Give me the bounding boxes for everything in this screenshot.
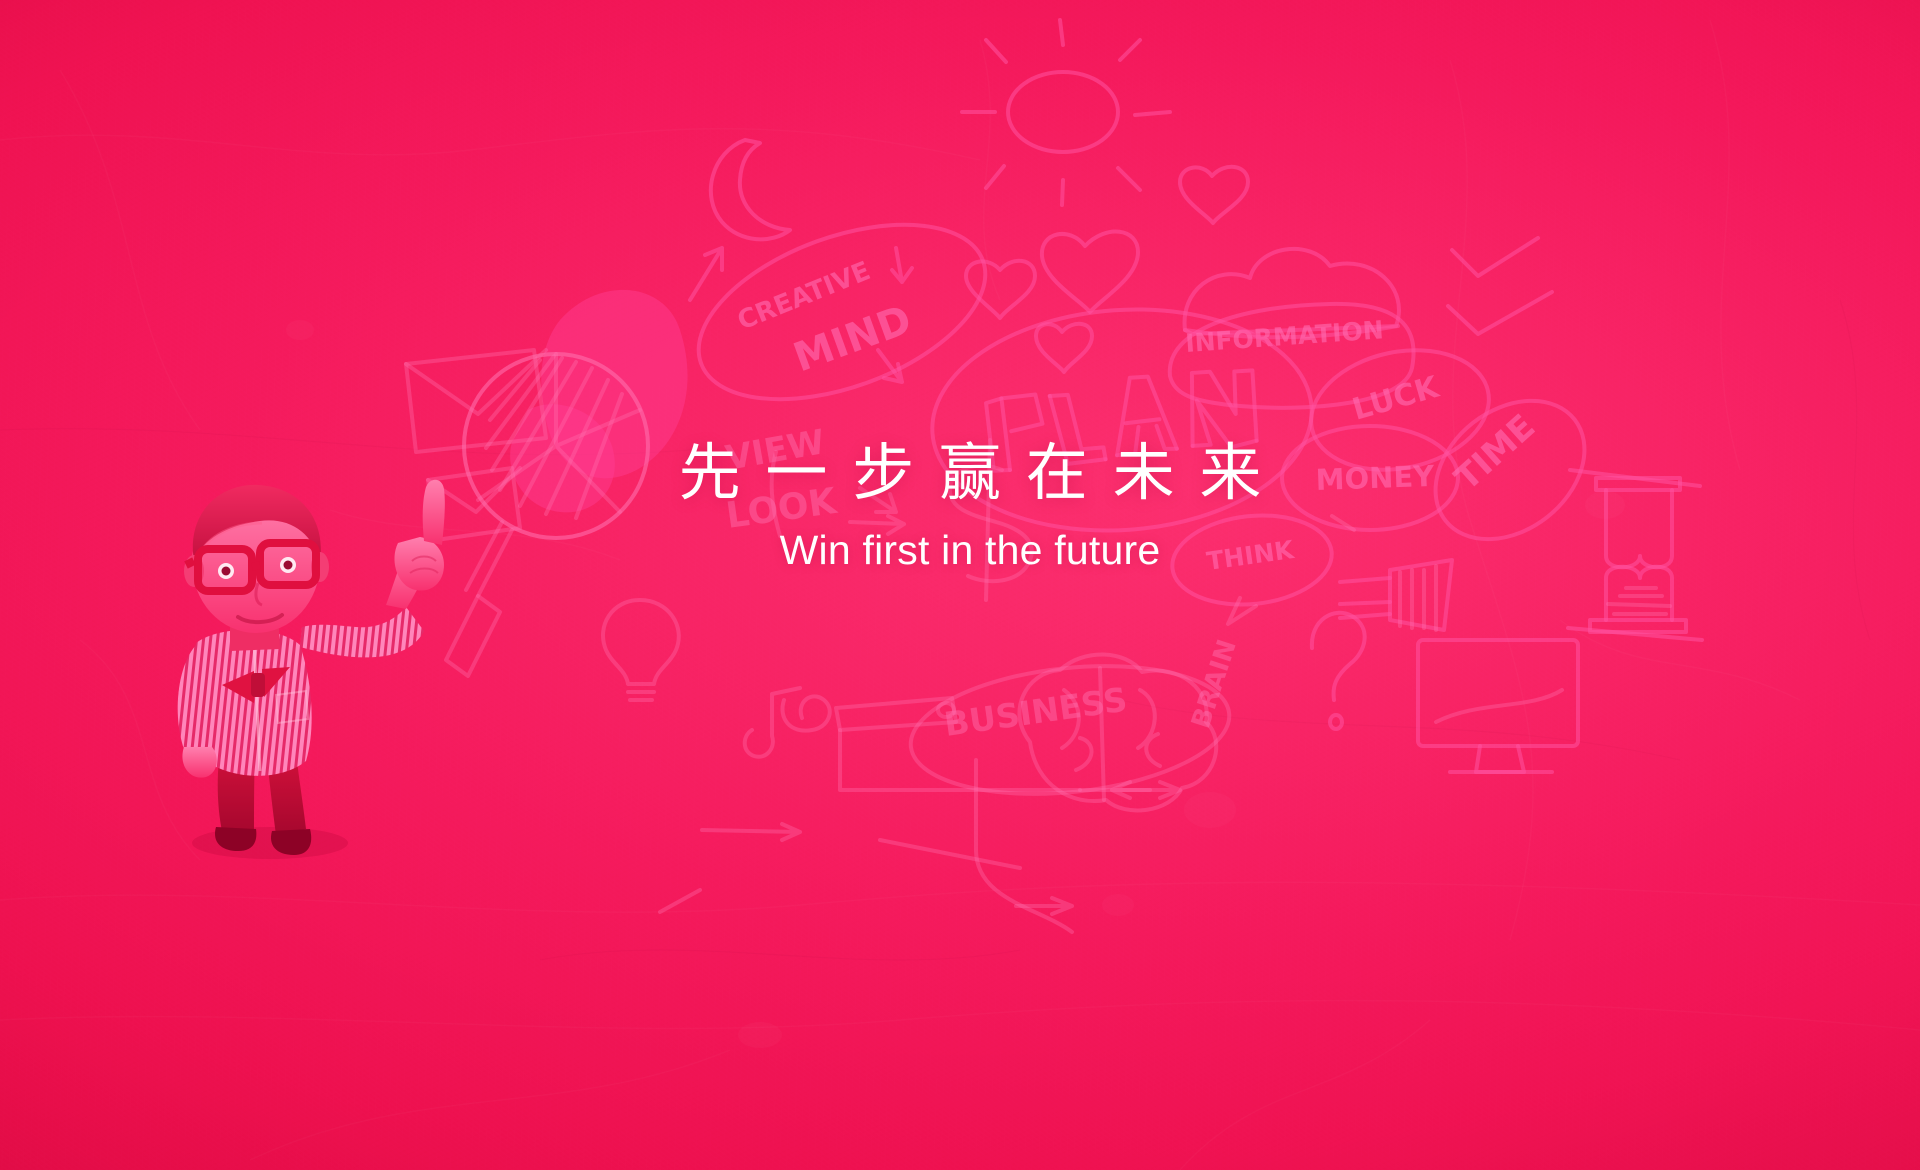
music-note-doodle xyxy=(745,688,800,757)
moon-doodle xyxy=(711,140,790,239)
lightbulb-doodle xyxy=(603,600,679,700)
check-doodle xyxy=(1448,238,1552,334)
hero-copy: 先一步赢在未来 Win first in the future xyxy=(0,440,1920,574)
question-mark-doodle xyxy=(1312,613,1365,729)
monitor-doodle xyxy=(1418,640,1578,772)
arrow-down-doodle xyxy=(892,248,912,282)
business-doodle: BUSINESS xyxy=(904,652,1235,809)
page-subtitle: Win first in the future xyxy=(20,527,1920,574)
paperclip-doodle xyxy=(782,696,829,730)
doodle-label-luck: LUCK xyxy=(1349,369,1445,427)
hero-banner: CREATIVE MIND I xyxy=(0,0,1920,1170)
sun-doodle xyxy=(962,20,1170,205)
pencil-doodle xyxy=(836,698,956,730)
page-title: 先一步赢在未来 xyxy=(20,440,1920,505)
